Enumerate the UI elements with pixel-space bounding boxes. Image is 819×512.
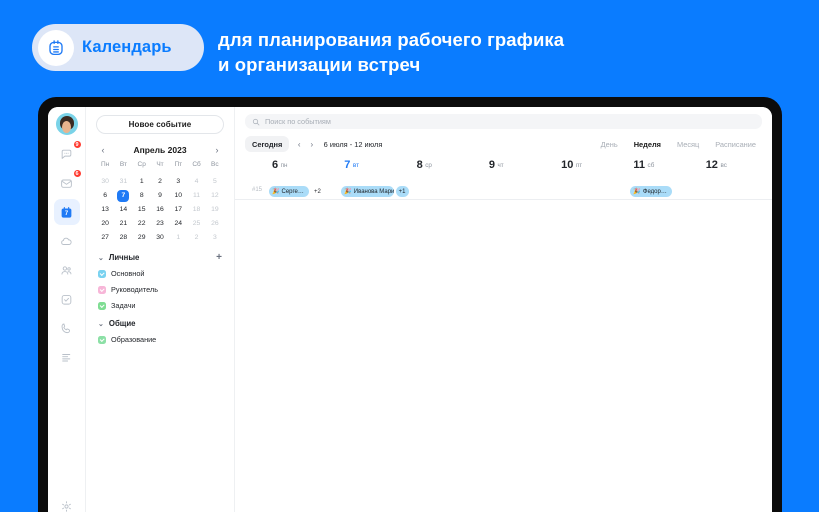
birthday-chip[interactable]: 🎉Федор… [630, 186, 671, 197]
mini-calendar-day[interactable]: 8 [133, 190, 151, 202]
mini-calendar-day[interactable]: 13 [96, 204, 114, 216]
rail-item-documents[interactable] [54, 344, 80, 370]
all-day-cell-7[interactable]: 🎉Иванова Мария Сергееевна+1 [338, 183, 410, 199]
birthday-chip-label: Федор… [643, 189, 667, 195]
chevron-down-icon: ⌄ [98, 320, 104, 328]
calendar-toolbar: Сегодня ‹ › 6 июля - 12 июля ДеньНеделяМ… [235, 133, 772, 159]
mini-calendar-day[interactable]: 10 [169, 190, 187, 202]
day-header-12[interactable]: 12вс [700, 159, 772, 183]
calendar-list-item[interactable]: Руководитель [96, 285, 224, 294]
mini-calendar-day[interactable]: 23 [151, 218, 169, 230]
party-popper-icon: 🎉 [272, 188, 279, 195]
calendar-list-item[interactable]: Основной [96, 269, 224, 278]
day-number: 8 [417, 160, 423, 171]
day-number: 10 [561, 160, 573, 171]
mini-calendar-day[interactable]: 30 [96, 176, 114, 188]
rail-item-settings[interactable] [54, 493, 80, 512]
mini-calendar-day[interactable]: 2 [187, 232, 205, 244]
mini-calendar-header: ‹ Апрель 2023 › [96, 145, 224, 155]
day-number: 12 [706, 160, 718, 171]
week-grid: 6пн7вт8ср9чт10пт11сб12вс #15🎉Серге…+2🎉Ив… [235, 159, 772, 512]
all-day-cell-10[interactable] [555, 183, 627, 199]
party-popper-icon: 🎉 [344, 188, 351, 195]
mini-calendar-day[interactable]: 9 [151, 190, 169, 202]
calendar-group-label: Общие [109, 319, 136, 328]
mini-calendar-title: Апрель 2023 [133, 145, 186, 155]
calendar-group-label: Личные [109, 253, 140, 262]
day-weekday: вт [353, 160, 359, 169]
mini-calendar-day[interactable]: 24 [169, 218, 187, 230]
mini-calendar-dow-0: Пн [96, 161, 114, 170]
more-events-count[interactable]: +2 [311, 186, 324, 197]
mini-calendar-dow-2: Ср [133, 161, 151, 170]
product-pill-label: Календарь [82, 38, 172, 57]
new-event-button[interactable]: Новое событие [96, 115, 224, 134]
product-pill: Календарь [32, 24, 204, 71]
chevron-right-icon[interactable]: › [212, 145, 222, 155]
search-input[interactable] [265, 117, 755, 126]
mini-calendar-day[interactable]: 31 [114, 176, 132, 188]
app-icon-rail: 9 6 7 [48, 107, 86, 512]
all-day-cell-6[interactable]: 🎉Серге…+2 [266, 183, 338, 199]
day-weekday: пт [576, 160, 582, 169]
mini-calendar-day[interactable]: 14 [114, 204, 132, 216]
mail-unread-badge: 6 [73, 169, 82, 178]
view-option-0[interactable]: День [601, 140, 618, 149]
calendar-list-item-label: Образование [111, 335, 156, 344]
calendar-list-item-label: Основной [111, 269, 144, 278]
mini-calendar-day[interactable]: 4 [187, 176, 205, 188]
all-day-cell-8[interactable] [411, 183, 483, 199]
birthday-chip-label: Серге… [281, 189, 303, 195]
rail-item-cloud[interactable] [54, 228, 80, 254]
day-weekday: пн [281, 160, 288, 169]
mini-calendar-day[interactable]: 30 [151, 232, 169, 244]
promo-headline: для планирования рабочего графика и орга… [218, 28, 564, 78]
calendar-list-item[interactable]: Образование [96, 335, 224, 344]
mini-calendar-day[interactable]: 28 [114, 232, 132, 244]
week-number-label: #15 [235, 183, 266, 199]
day-number: 7 [344, 160, 350, 171]
mini-calendar-days: 3031123456789101112131415161718192021222… [96, 176, 224, 244]
calendar-icon [38, 30, 74, 66]
rail-item-calendar[interactable]: 7 [54, 199, 80, 225]
day-number: 11 [633, 160, 645, 171]
mini-calendar-day[interactable]: 5 [206, 176, 224, 188]
mini-calendar-day[interactable]: 26 [206, 218, 224, 230]
all-day-cell-12[interactable] [700, 183, 772, 199]
birthday-chip-label: Иванова Мария Сергееевна [354, 189, 394, 195]
mini-calendar-day[interactable]: 25 [187, 218, 205, 230]
all-day-row: #15🎉Серге…+2🎉Иванова Мария Сергееевна+1🎉… [235, 183, 772, 199]
time-grid: 10:0011:0012:0013:0014:0015:0016:0017:00… [235, 199, 772, 200]
calendar-group-header-0[interactable]: ⌄Личные+ [96, 253, 224, 262]
day-weekday: ср [425, 160, 432, 169]
mini-calendar-day[interactable]: 11 [187, 190, 205, 202]
dayhead-gutter [235, 159, 266, 183]
search-box[interactable] [245, 114, 762, 129]
day-header-10[interactable]: 10пт [555, 159, 627, 183]
mini-calendar-day[interactable]: 1 [169, 232, 187, 244]
mini-calendar-day[interactable]: 20 [96, 218, 114, 230]
day-header-6[interactable]: 6пн [266, 159, 338, 183]
prev-week-button[interactable]: ‹ [296, 140, 302, 149]
next-week-button[interactable]: › [309, 140, 315, 149]
view-option-3[interactable]: Расписание [715, 140, 756, 149]
chevron-left-icon[interactable]: ‹ [98, 145, 108, 155]
mini-calendar-day[interactable]: 16 [151, 204, 169, 216]
add-calendar-button[interactable]: + [216, 254, 222, 262]
mini-calendar-day[interactable]: 19 [206, 204, 224, 216]
mini-calendar-day[interactable]: 6 [96, 190, 114, 202]
search-bar [235, 107, 772, 133]
mini-calendar-day[interactable]: 21 [114, 218, 132, 230]
mini-calendar-day[interactable]: 22 [133, 218, 151, 230]
calendar-list-item-label: Руководитель [111, 285, 158, 294]
promo-headline-line1: для планирования рабочего графика [218, 28, 564, 53]
calendar-checkbox[interactable] [98, 336, 106, 344]
mini-calendar-day[interactable]: 2 [151, 176, 169, 188]
view-option-1[interactable]: Неделя [634, 140, 661, 149]
all-day-cell-9[interactable] [483, 183, 555, 199]
birthday-chip[interactable]: 🎉Серге… [269, 186, 309, 197]
rail-item-phone[interactable] [54, 315, 80, 341]
view-switcher: ДеньНеделяМесяцРасписание [601, 140, 762, 149]
calendar-list-item-label: Задачи [111, 301, 136, 310]
view-option-2[interactable]: Месяц [677, 140, 699, 149]
rail-item-tasks[interactable] [54, 286, 80, 312]
mini-calendar-dow-5: Сб [187, 161, 205, 170]
mini-calendar-day[interactable]: 27 [96, 232, 114, 244]
chevron-down-icon: ⌄ [98, 254, 104, 262]
day-headers: 6пн7вт8ср9чт10пт11сб12вс [235, 159, 772, 183]
day-header-9[interactable]: 9чт [483, 159, 555, 183]
promo-banner: Календарь для планирования рабочего граф… [0, 0, 819, 100]
user-avatar[interactable] [56, 113, 78, 135]
calendar-sidebar: Новое событие ‹ Апрель 2023 › ПнВтСрЧтПт… [86, 107, 235, 512]
mini-calendar-day[interactable]: 15 [133, 204, 151, 216]
day-weekday: вс [720, 160, 726, 169]
rail-item-chat[interactable]: 9 [54, 141, 80, 167]
mini-calendar-day[interactable]: 12 [206, 190, 224, 202]
calendar-group-header-1[interactable]: ⌄Общие [96, 319, 224, 328]
mini-calendar-day[interactable]: 18 [187, 204, 205, 216]
mini-calendar-day[interactable]: 1 [133, 176, 151, 188]
mini-calendar-day[interactable]: 29 [133, 232, 151, 244]
birthday-chip[interactable]: 🎉Иванова Мария Сергееевна [341, 186, 393, 197]
day-header-7[interactable]: 7вт [338, 159, 410, 183]
today-button[interactable]: Сегодня [245, 136, 289, 152]
date-range-label: 6 июля - 12 июля [324, 140, 383, 149]
app-screen: 9 6 7 [48, 107, 772, 512]
day-number: 6 [272, 160, 278, 171]
day-weekday: чт [497, 160, 503, 169]
mini-calendar-day-selected[interactable]: 7 [114, 190, 132, 202]
calendar-checkbox[interactable] [98, 302, 106, 310]
mini-calendar-dow-6: Вс [206, 161, 224, 170]
mini-calendar-day[interactable]: 17 [169, 204, 187, 216]
day-header-8[interactable]: 8ср [411, 159, 483, 183]
calendar-main: Сегодня ‹ › 6 июля - 12 июля ДеньНеделяМ… [235, 107, 772, 512]
day-weekday: сб [648, 160, 655, 169]
calendar-checkbox[interactable] [98, 286, 106, 294]
rail-item-contacts[interactable] [54, 257, 80, 283]
more-events-count[interactable]: +1 [396, 186, 409, 197]
tablet-frame: 9 6 7 [38, 97, 782, 512]
search-icon [252, 113, 260, 131]
day-header-11[interactable]: 11сб [627, 159, 699, 183]
party-popper-icon: 🎉 [633, 188, 640, 195]
mini-calendar-dow-4: Пт [169, 161, 187, 170]
calendar-checkbox[interactable] [98, 270, 106, 278]
calendar-groups: ⌄Личные+ОсновнойРуководительЗадачи⌄Общие… [96, 253, 224, 344]
mini-calendar-day[interactable]: 3 [169, 176, 187, 188]
mini-calendar-dow-row: ПнВтСрЧтПтСбВс [96, 161, 224, 170]
chat-unread-badge: 9 [73, 140, 82, 149]
mini-calendar-day[interactable]: 3 [206, 232, 224, 244]
all-day-cell-11[interactable]: 🎉Федор… [627, 183, 699, 199]
mini-calendar-dow-3: Чт [151, 161, 169, 170]
mini-calendar-dow-1: Вт [114, 161, 132, 170]
day-number: 9 [489, 160, 495, 171]
calendar-list-item[interactable]: Задачи [96, 301, 224, 310]
promo-headline-line2: и организации встреч [218, 53, 564, 78]
rail-item-mail[interactable]: 6 [54, 170, 80, 196]
